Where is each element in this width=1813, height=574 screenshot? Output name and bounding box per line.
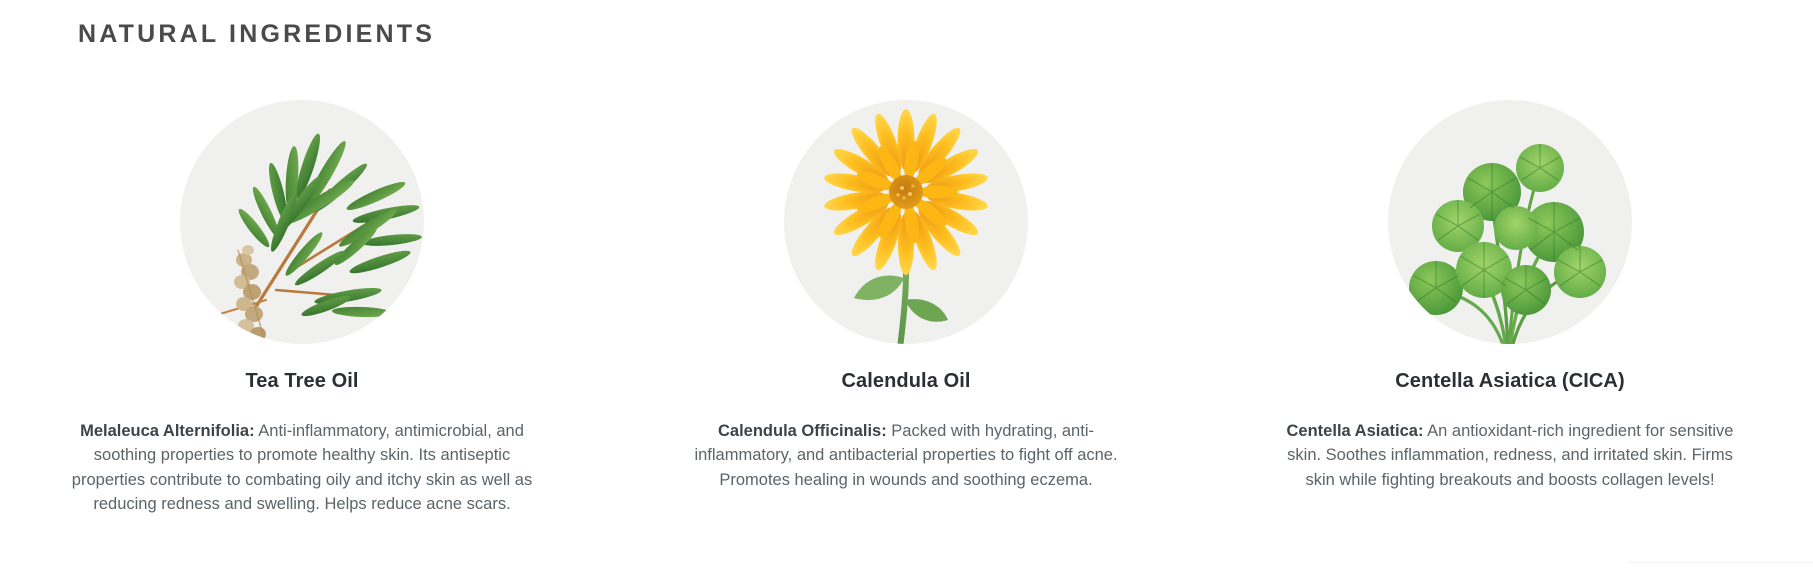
ingredient-latin-name: Melaleuca Alternifolia:	[80, 422, 255, 440]
ingredient-title: Calendula Oil	[841, 370, 970, 393]
page-title: NATURAL INGREDIENTS	[78, 20, 435, 49]
ingredient-description: Melaleuca Alternifolia: Anti-inflammator…	[67, 419, 537, 517]
ingredients-section: NATURAL INGREDIENTS	[0, 0, 1813, 574]
ingredient-card: Tea Tree Oil Melaleuca Alternifolia: Ant…	[0, 100, 604, 517]
calendula-flower-image	[784, 100, 1028, 344]
ingredient-latin-name: Centella Asiatica:	[1287, 422, 1424, 440]
centella-leaves-image	[1388, 100, 1632, 344]
ingredient-title: Centella Asiatica (CICA)	[1395, 370, 1625, 393]
ingredient-card: Centella Asiatica (CICA) Centella Asiati…	[1208, 100, 1812, 517]
ingredient-description: Calendula Officinalis: Packed with hydra…	[671, 419, 1141, 492]
calendula-flower-illustration	[784, 100, 1028, 344]
ingredient-description: Centella Asiatica: An antioxidant-rich i…	[1275, 419, 1745, 492]
ingredient-card-grid: Tea Tree Oil Melaleuca Alternifolia: Ant…	[0, 100, 1813, 517]
centella-leaves-illustration	[1388, 100, 1632, 344]
ingredient-card: Calendula Oil Calendula Officinalis: Pac…	[604, 100, 1208, 517]
tea-tree-branch-image	[180, 100, 424, 344]
bottom-right-panel-edge	[1627, 562, 1813, 574]
tea-tree-branch-illustration	[180, 100, 424, 344]
ingredient-title: Tea Tree Oil	[245, 370, 358, 393]
ingredient-latin-name: Calendula Officinalis:	[718, 422, 887, 440]
